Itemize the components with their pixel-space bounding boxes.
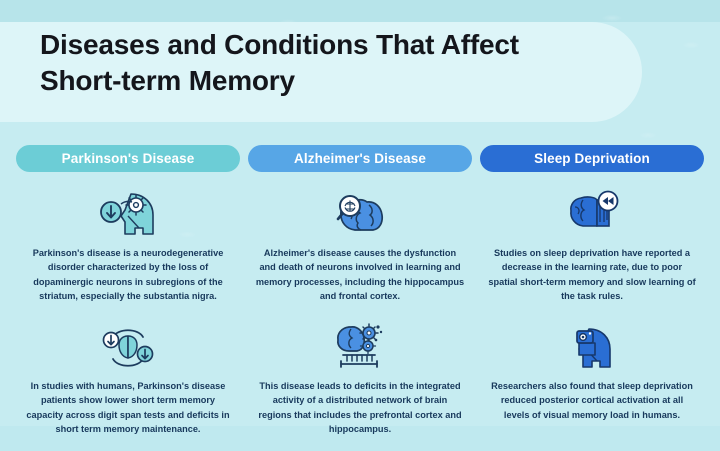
card-text: Researchers also found that sleep depriv… — [487, 379, 697, 422]
pill-alzheimers-disease[interactable]: Alzheimer's Disease — [248, 145, 472, 172]
card-text: Studies on sleep deprivation have report… — [487, 246, 697, 303]
card-text: This disease leads to deficits in the in… — [255, 379, 465, 436]
brain-gears-network-icon — [323, 319, 397, 375]
head-profile-down-arrow-gear-icon — [91, 186, 165, 242]
brain-rewind-icon — [555, 186, 629, 242]
card-text: In studies with humans, Parkinson's dise… — [23, 379, 233, 436]
column-sleep-deprivation: Sleep Deprivation Studies on sleep depri — [480, 145, 704, 436]
head-profile-vision-icon — [555, 319, 629, 375]
card-alzheimers-2: This disease leads to deficits in the in… — [248, 319, 472, 436]
brain-magnifier-icon — [323, 186, 397, 242]
page-title: Diseases and Conditions That Affect Shor… — [40, 27, 640, 100]
pill-parkinsons-disease[interactable]: Parkinson's Disease — [16, 145, 240, 172]
column-parkinsons: Parkinson's Disease Parkinson's disease — [16, 145, 240, 436]
card-sleep-1: Studies on sleep deprivation have report… — [480, 186, 704, 303]
card-parkinsons-1: Parkinson's disease is a neurodegenerati… — [16, 186, 240, 303]
pill-sleep-deprivation[interactable]: Sleep Deprivation — [480, 145, 704, 172]
card-parkinsons-2: In studies with humans, Parkinson's dise… — [16, 319, 240, 436]
columns-container: Parkinson's Disease Parkinson's disease — [0, 145, 720, 436]
column-alzheimers: Alzheimer's Disease Alzheimer's disease … — [248, 145, 472, 436]
infographic-root: Diseases and Conditions That Affect Shor… — [0, 0, 720, 451]
card-text: Alzheimer's disease causes the dysfuncti… — [255, 246, 465, 303]
card-sleep-2: Researchers also found that sleep depriv… — [480, 319, 704, 422]
brain-cycle-arrows-icon — [91, 319, 165, 375]
card-text: Parkinson's disease is a neurodegenerati… — [23, 246, 233, 303]
background-band-top — [0, 0, 720, 22]
card-alzheimers-1: Alzheimer's disease causes the dysfuncti… — [248, 186, 472, 303]
